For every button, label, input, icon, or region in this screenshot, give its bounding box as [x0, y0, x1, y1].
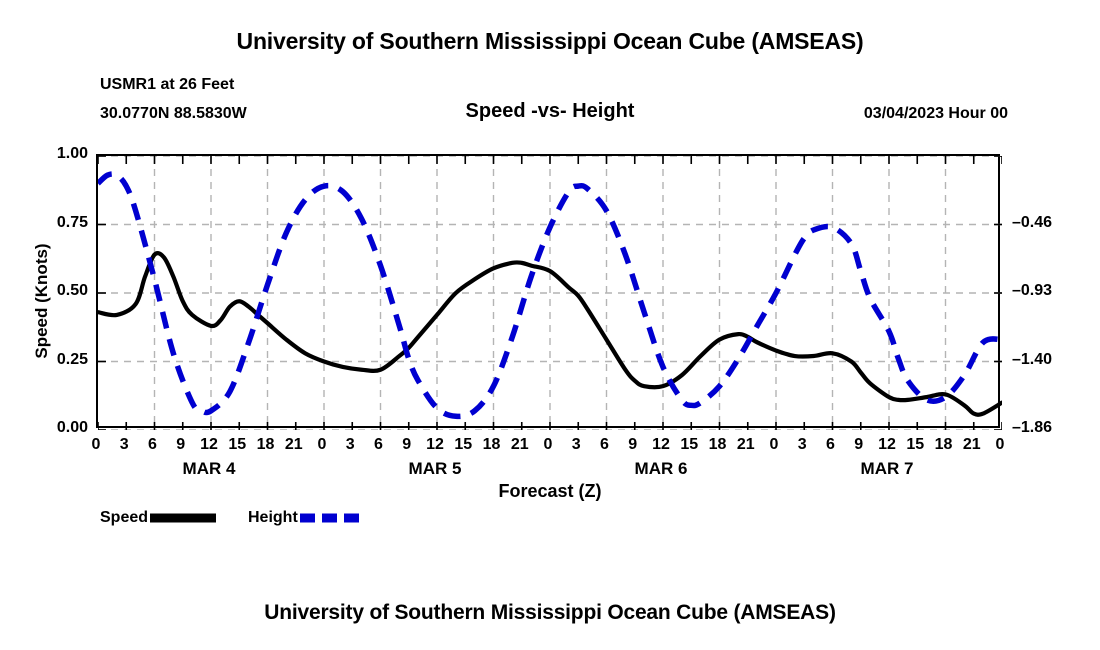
legend-swatch-dashed	[300, 511, 366, 525]
y-axis-left-tick-label: 1.00	[8, 145, 88, 163]
y-axis-right-tick-label: –1.86	[1012, 419, 1092, 437]
run-datetime-label: 03/04/2023 Hour 00	[864, 105, 1008, 123]
y-axis-right-tick-label: –0.46	[1012, 214, 1092, 232]
x-axis-tick-label: 0	[980, 436, 1020, 454]
y-axis-right-tick-label: –1.40	[1012, 351, 1092, 369]
legend-label: Speed	[100, 509, 148, 527]
x-axis-day-label: MAR 6	[591, 459, 731, 479]
x-axis-title: Forecast (Z)	[0, 481, 1100, 502]
plot-area	[96, 154, 1000, 428]
x-axis-day-label: MAR 5	[365, 459, 505, 479]
chart-page: University of Southern Mississippi Ocean…	[0, 0, 1100, 650]
station-name-label: USMR1 at 26 Feet	[100, 76, 234, 94]
legend-item-height: Height	[248, 508, 366, 528]
page-title: University of Southern Mississippi Ocean…	[0, 28, 1100, 55]
legend-label: Height	[248, 509, 298, 527]
y-axis-left-title: Speed (Knots)	[32, 191, 52, 411]
x-axis-day-label: MAR 7	[817, 459, 957, 479]
plot-canvas	[98, 156, 1002, 430]
legend-item-speed: Speed	[100, 508, 216, 528]
legend-swatch-solid	[150, 511, 216, 525]
x-axis-day-label: MAR 4	[139, 459, 279, 479]
footer-title: University of Southern Mississippi Ocean…	[0, 601, 1100, 625]
y-axis-left-tick-label: 0.00	[8, 419, 88, 437]
y-axis-right-tick-label: –0.93	[1012, 282, 1092, 300]
